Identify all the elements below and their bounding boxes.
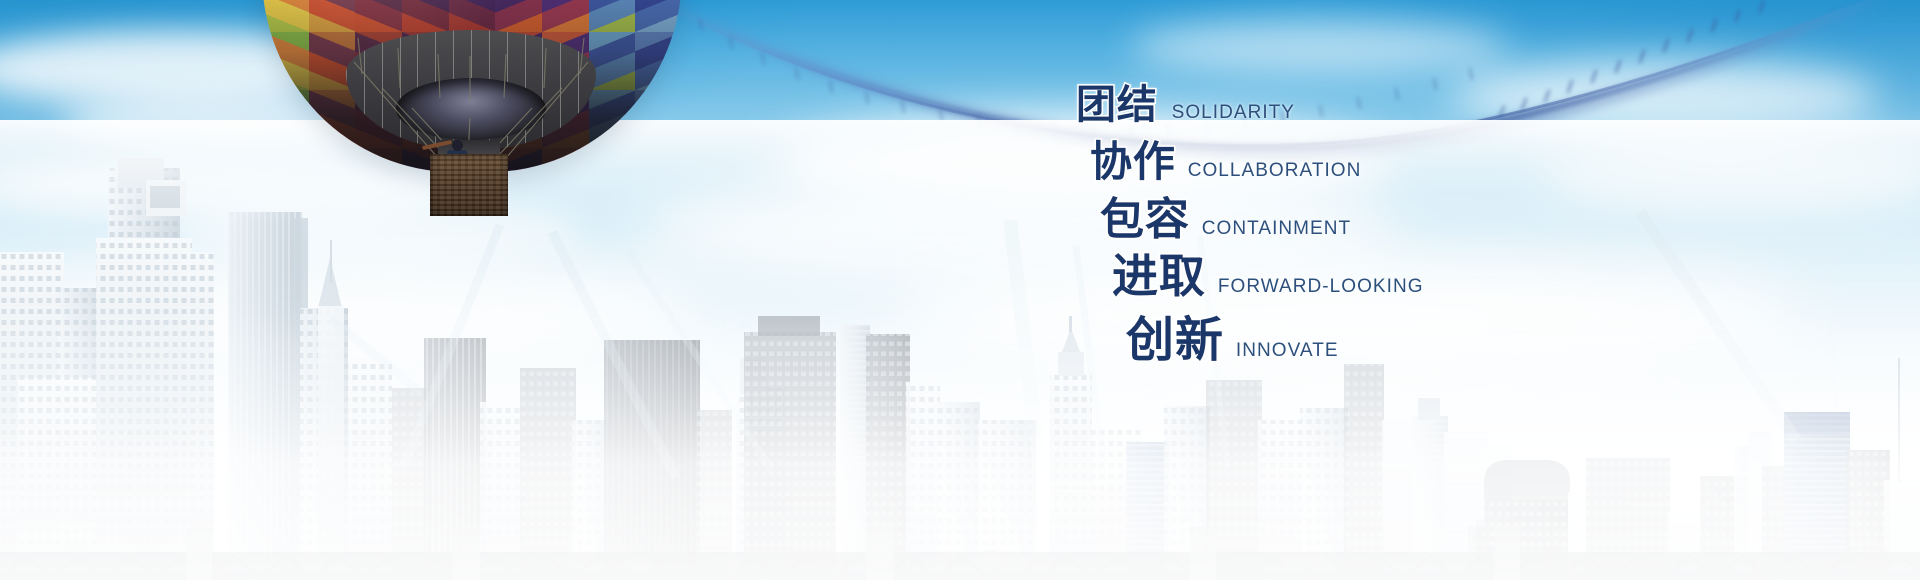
value-line: 协作COLLABORATION	[1090, 128, 1361, 189]
value-label-en: INNOVATE	[1236, 340, 1339, 362]
value-label-en: CONTAINMENT	[1202, 218, 1351, 240]
value-line: 创新INNOVATE	[1126, 300, 1339, 370]
value-label-en: COLLABORATION	[1188, 160, 1362, 182]
value-label-en: FORWARD-LOOKING	[1218, 276, 1424, 298]
value-label-cn: 包容	[1100, 183, 1190, 247]
corporate-values-list: 团结SOLIDARITY协作COLLABORATION包容CONTAINMENT…	[0, 0, 1920, 580]
value-line: 团结SOLIDARITY	[1076, 72, 1295, 130]
value-label-cn: 团结	[1076, 72, 1158, 130]
value-line: 包容CONTAINMENT	[1100, 183, 1351, 247]
corporate-culture-banner: 团结SOLIDARITY协作COLLABORATION包容CONTAINMENT…	[0, 0, 1920, 580]
value-label-cn: 创新	[1126, 300, 1224, 370]
value-label-cn: 进取	[1112, 240, 1206, 306]
value-label-en: SOLIDARITY	[1172, 102, 1295, 124]
value-label-cn: 协作	[1090, 128, 1176, 189]
value-line: 进取FORWARD-LOOKING	[1112, 240, 1424, 306]
